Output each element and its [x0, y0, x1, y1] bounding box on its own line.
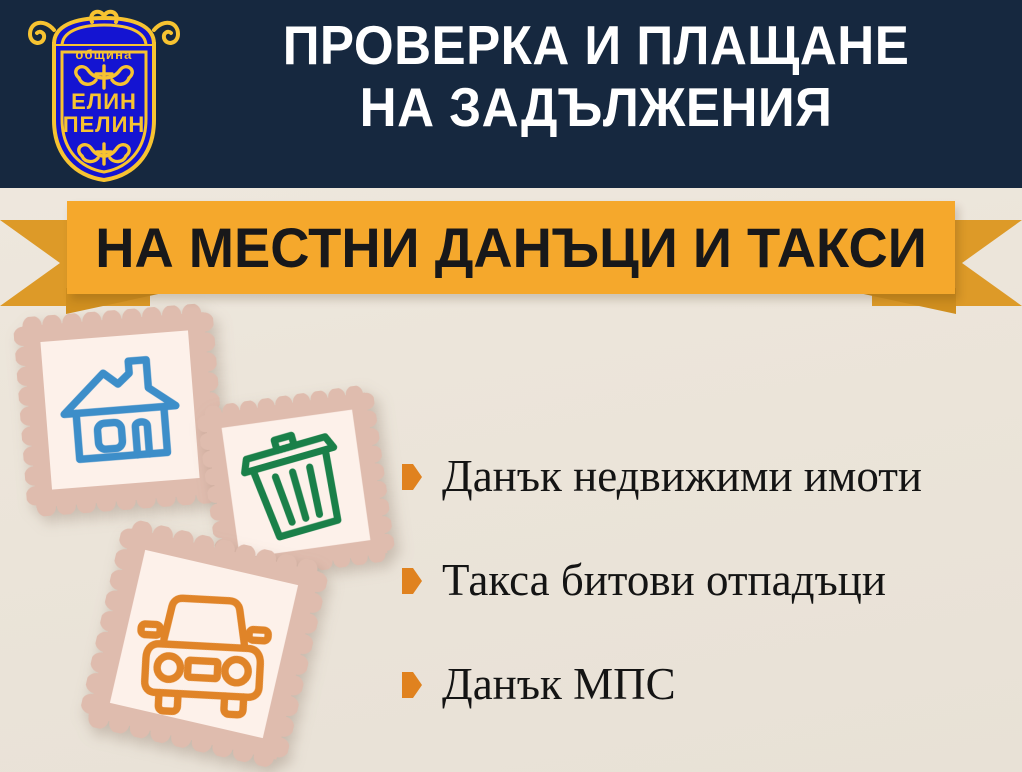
- arrow-bullet-icon: [402, 464, 422, 490]
- coat-of-arms-shield-icon: община ЕЛИН ПЕЛИН: [24, 8, 184, 184]
- ribbon-subtitle: НА МЕСТНИ ДАНЪЦИ И ТАКСИ: [80, 201, 941, 294]
- ribbon-band: НА МЕСТНИ ДАНЪЦИ И ТАКСИ: [67, 201, 955, 294]
- crest-label-top: община: [75, 47, 132, 62]
- arrow-bullet-icon: [402, 672, 422, 698]
- municipality-crest: община ЕЛИН ПЕЛИН: [24, 8, 184, 184]
- arrow-bullet-icon: [402, 568, 422, 594]
- tax-type-list: Данък недвижими имоти Такса битови отпад…: [402, 425, 1012, 737]
- list-item-label: Данък недвижими имоти: [442, 453, 922, 500]
- stamp-vehicle: [77, 517, 331, 771]
- list-item-label: Данък МПС: [442, 661, 676, 708]
- ribbon-banner: НА МЕСТНИ ДАНЪЦИ И ТАКСИ: [0, 198, 1022, 308]
- list-item[interactable]: Такса битови отпадъци: [402, 529, 1012, 633]
- list-item[interactable]: Данък МПС: [402, 633, 1012, 737]
- car-icon: [77, 517, 331, 771]
- crest-label-line1: ЕЛИН: [71, 89, 137, 114]
- list-item[interactable]: Данък недвижими имоти: [402, 425, 1012, 529]
- list-item-label: Такса битови отпадъци: [442, 557, 886, 604]
- page-title: ПРОВЕРКА И ПЛАЩАНЕ НА ЗАДЪЛЖЕНИЯ: [209, 14, 983, 138]
- crest-label-line2: ПЕЛИН: [63, 112, 146, 137]
- poster-root: ПРОВЕРКА И ПЛАЩАНЕ НА ЗАДЪЛЖЕНИЯ община: [0, 0, 1022, 772]
